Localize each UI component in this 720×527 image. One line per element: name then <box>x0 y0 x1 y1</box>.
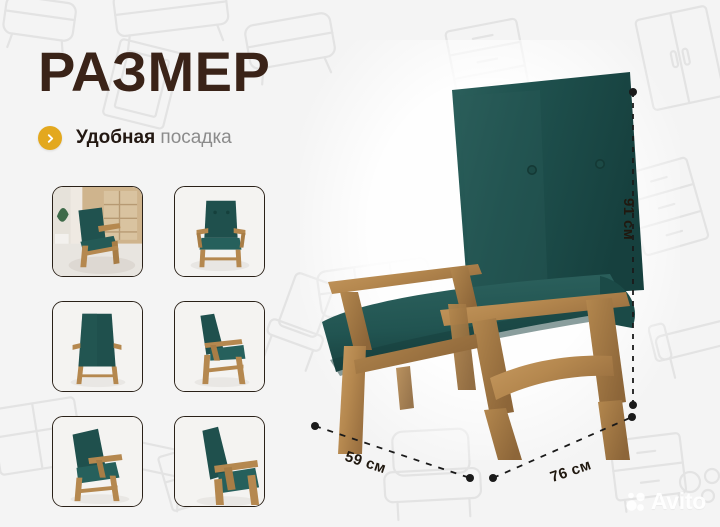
avito-wordmark: Avito <box>651 488 706 515</box>
promo-banner: 91 см 59 см 76 см РАЗМЕР Удобная посадка <box>0 0 720 527</box>
avito-watermark: Avito <box>625 488 706 515</box>
thumbnail-3[interactable] <box>52 301 143 392</box>
chevron-right-icon <box>38 126 62 150</box>
subtitle-strong: Удобная <box>76 127 155 148</box>
thumbnail-4[interactable] <box>174 301 265 392</box>
thumbnail-6[interactable] <box>174 416 265 507</box>
thumbnail-grid[interactable] <box>52 186 265 507</box>
width-dim-endpoint-left <box>489 474 497 482</box>
subtitle-light: посадка <box>155 127 232 148</box>
avito-dots-icon <box>625 491 647 513</box>
thumbnail-image <box>175 417 264 506</box>
thumbnail-5[interactable] <box>52 416 143 507</box>
product-photo <box>300 60 660 460</box>
thumbnail-image <box>53 417 142 506</box>
depth-dim-endpoint-right <box>466 474 474 482</box>
thumbnail-image <box>53 302 142 391</box>
thumbnail-image <box>175 187 264 276</box>
width-dimension-label: 76 см <box>548 456 594 486</box>
heading-block: РАЗМЕР Удобная посадка <box>38 44 328 150</box>
thumbnail-1[interactable] <box>52 186 143 277</box>
page-title: РАЗМЕР <box>38 44 328 100</box>
thumbnail-image <box>175 302 264 391</box>
subtitle: Удобная посадка <box>76 127 232 149</box>
subtitle-row: Удобная посадка <box>38 126 328 150</box>
thumbnail-image <box>53 187 142 276</box>
thumbnail-2[interactable] <box>174 186 265 277</box>
